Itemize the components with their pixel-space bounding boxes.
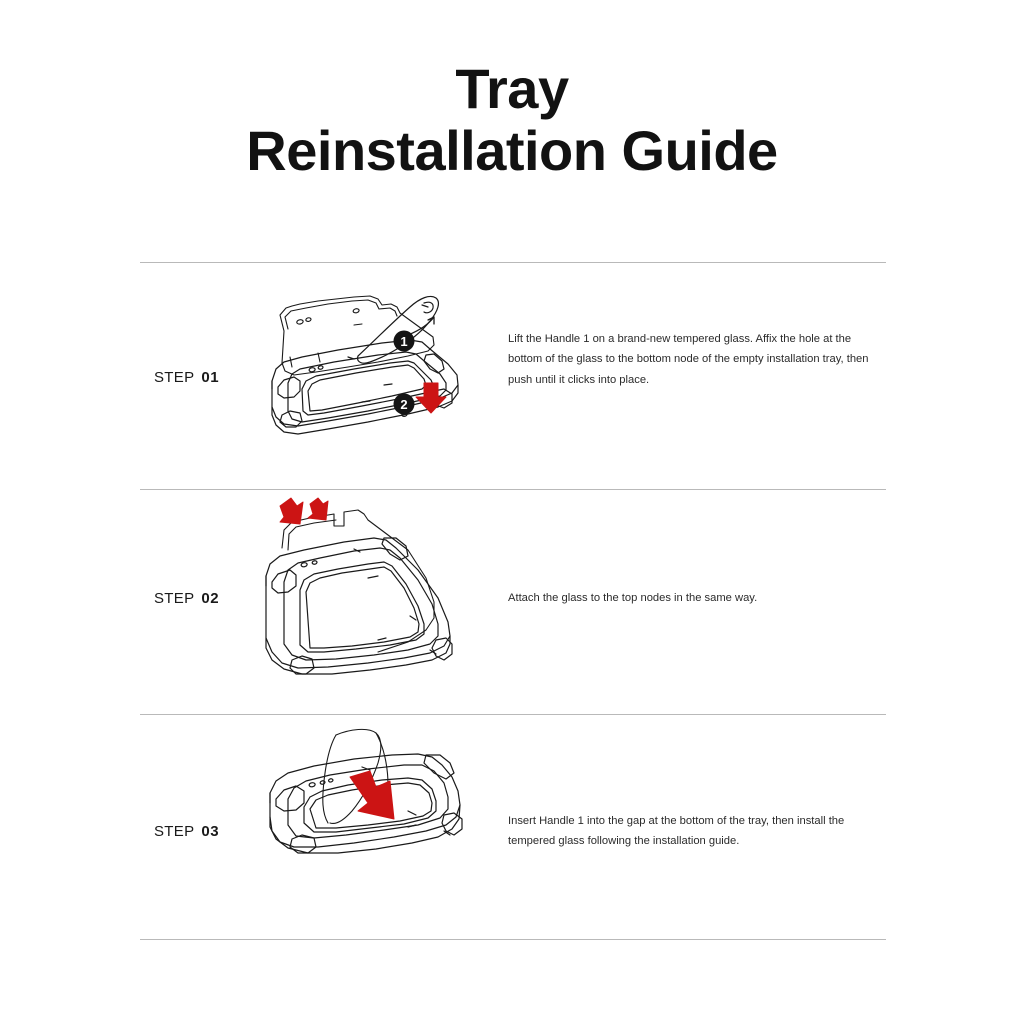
step-label-03: STEP03 xyxy=(154,823,219,840)
page-title-line-2: Reinstallation Guide xyxy=(0,120,1024,182)
step-label-01: STEP01 xyxy=(154,369,219,386)
callout-badge-2: 2 xyxy=(394,394,415,415)
page-title: Tray Reinstallation Guide xyxy=(0,58,1024,182)
step-description-text-03: Insert Handle 1 into the gap at the bott… xyxy=(508,811,878,852)
step-illustration-01: 1 2 xyxy=(258,263,488,489)
svg-text:2: 2 xyxy=(400,397,407,412)
step-label-02: STEP02 xyxy=(154,590,219,607)
red-down-arrow-right-icon xyxy=(308,498,328,520)
step-label-word-02: STEP xyxy=(154,590,194,607)
step-label-number-02: 02 xyxy=(201,590,219,607)
step-illustration-03 xyxy=(258,715,488,939)
step-description-text-02: Attach the glass to the top nodes in the… xyxy=(508,588,878,608)
tempered-glass-sheet xyxy=(282,510,434,652)
page-title-line-1: Tray xyxy=(0,58,1024,120)
step-label-number-03: 03 xyxy=(201,823,219,840)
red-down-arrow-left-icon xyxy=(280,498,303,524)
step-label-number-01: 01 xyxy=(201,369,219,386)
step-illustration-02 xyxy=(258,490,488,714)
divider-bottom xyxy=(140,939,886,940)
red-down-arrow-icon xyxy=(416,383,446,413)
step-row-03: STEP03 xyxy=(140,715,886,939)
installation-tray xyxy=(266,538,452,674)
step-description-01: Lift the Handle 1 on a brand-new tempere… xyxy=(508,329,878,390)
svg-text:1: 1 xyxy=(400,334,407,349)
step-description-text-01: Lift the Handle 1 on a brand-new tempere… xyxy=(508,329,878,390)
installation-tray xyxy=(270,754,462,853)
callout-badge-1: 1 xyxy=(394,331,415,352)
step-label-word-03: STEP xyxy=(154,823,194,840)
step-row-01: STEP01 xyxy=(140,263,886,489)
step-description-02: Attach the glass to the top nodes in the… xyxy=(508,588,878,608)
step-row-02: STEP02 xyxy=(140,490,886,714)
step-label-word-01: STEP xyxy=(154,369,194,386)
step-description-03: Insert Handle 1 into the gap at the bott… xyxy=(508,811,878,852)
guide-page: Tray Reinstallation Guide STEP01 xyxy=(0,0,1024,1024)
